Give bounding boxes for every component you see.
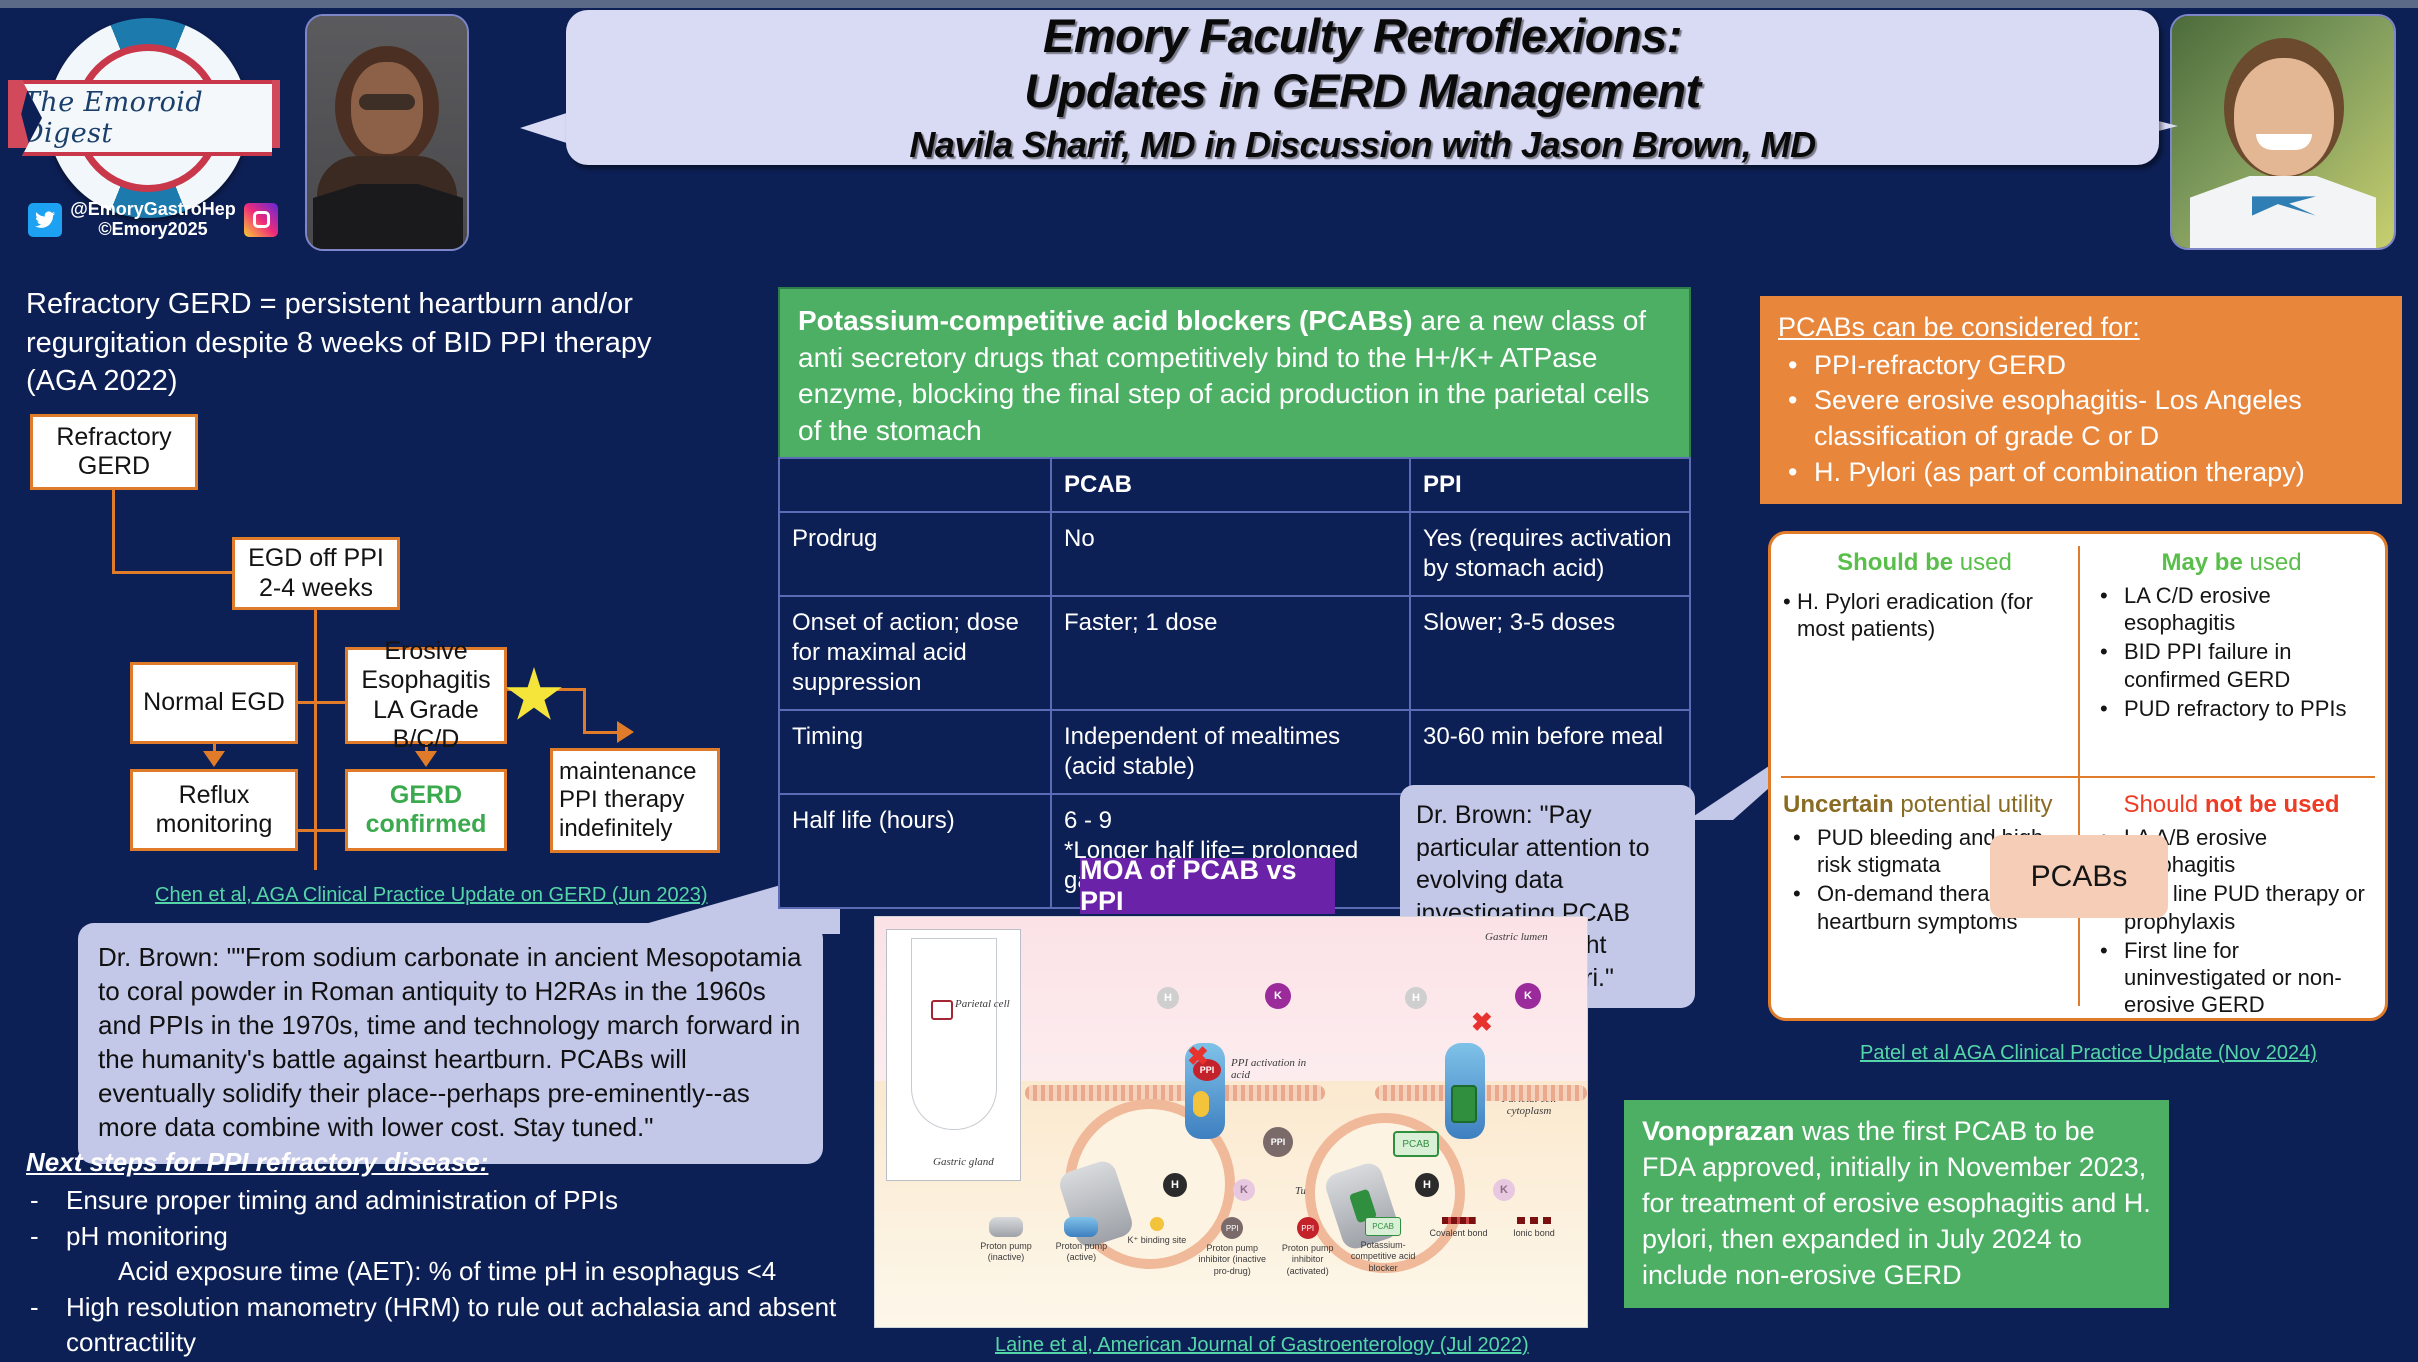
- legend-item: Ionic bond: [1498, 1217, 1570, 1277]
- pcab-considerations-header: PCABs can be considered for:: [1778, 310, 2384, 346]
- k-ion-pcab: K: [1515, 983, 1541, 1009]
- next-step-item: Ensure proper timing and administration …: [26, 1183, 926, 1218]
- flow-box-egd-off-ppi[interactable]: EGD off PPI 2-4 weeks: [232, 537, 400, 610]
- figure-legend: Proton pump (inactive) Proton pump (acti…: [970, 1217, 1570, 1277]
- poster-canvas: The Emoroid Digest @EmoryGastroHep ©Emor…: [0, 0, 2418, 1362]
- pcab-definition-box: Potassium-competitive acid blockers (PCA…: [778, 287, 1691, 466]
- flow-box-reflux-monitoring[interactable]: Reflux monitoring: [130, 769, 298, 851]
- flow-line-9: [583, 688, 586, 734]
- flow-line-5: [296, 829, 348, 832]
- legend-icon-pump-active: [1064, 1217, 1098, 1237]
- quadrant-heading-should: Should be used: [1783, 548, 2066, 578]
- quote-dr-brown-1: Dr. Brown: ""From sodium carbonate in an…: [78, 923, 823, 1164]
- consideration-item: Severe erosive esophagitis- Los Angeles …: [1778, 383, 2384, 454]
- quadrant-may-be-used: May be used LA C/D erosive esophagitis B…: [2078, 534, 2385, 776]
- k-ion-exit: K: [1233, 1179, 1255, 1201]
- legend-icon-covalent: [1442, 1217, 1476, 1224]
- table-cell-label: Onset of action; dose for maximal acid s…: [779, 596, 1051, 710]
- pcab-usage-quadrant-box: Should be used H. Pylori eradication (fo…: [1768, 531, 2388, 1021]
- k-ion-exit-2: K: [1493, 1179, 1515, 1201]
- pcab-definition-bold: Potassium-competitive acid blockers (PCA…: [798, 305, 1413, 336]
- legend-icon-pcab: PCAB: [1365, 1217, 1401, 1236]
- legend-icon-pump-inactive: [989, 1217, 1023, 1237]
- may-item: LA C/D erosive esophagitis: [2090, 582, 2373, 637]
- next-steps-header: Next steps for PPI refractory disease:: [26, 1145, 926, 1180]
- next-step-item: pH monitoring: [26, 1219, 926, 1254]
- h-ion-outgoing: H: [1157, 987, 1179, 1009]
- speaker-photo-navila-sharif: [305, 14, 469, 251]
- pcab-considerations-list: PPI-refractory GERD Severe erosive esoph…: [1778, 348, 2384, 491]
- flow-box-gerd-confirmed[interactable]: GERD confirmed: [345, 769, 507, 851]
- consideration-item: PPI-refractory GERD: [1778, 348, 2384, 384]
- instagram-icon[interactable]: [244, 203, 278, 237]
- k-ion-ppi: K: [1265, 983, 1291, 1009]
- legend-icon-k-site: [1150, 1217, 1164, 1231]
- legend-item: Proton pump (active): [1045, 1217, 1117, 1277]
- table-header-blank: [779, 458, 1051, 512]
- table-row: Prodrug No Yes (requires activation by s…: [779, 512, 1690, 596]
- legend-item: PPIProton pump inhibitor (activated): [1272, 1217, 1344, 1277]
- social-handles: @EmoryGastroHep ©Emory2025: [28, 200, 278, 240]
- flow-line-10: [583, 731, 619, 734]
- moa-mechanism-figure: Gastric lumen Parietal cell cytoplasm Tu…: [874, 916, 1588, 1328]
- flow-line-1: [112, 490, 115, 574]
- quadrant-should-be-used: Should be used H. Pylori eradication (fo…: [1771, 534, 2078, 776]
- may-item: PUD refractory to PPIs: [2090, 695, 2373, 722]
- flow-arrow-to-maintenance: [617, 721, 634, 743]
- quadrant-heading-uncertain: Uncertain potential utility: [1783, 790, 2066, 820]
- next-steps-list: Ensure proper timing and administration …: [26, 1183, 926, 1362]
- table-cell-label: Half life (hours): [779, 794, 1051, 908]
- legend-item: Covalent bond: [1423, 1217, 1495, 1277]
- table-row: Timing Independent of mealtimes (acid st…: [779, 710, 1690, 794]
- legend-item: PPIProton pump inhibitor (inactive pro-d…: [1196, 1217, 1268, 1277]
- consideration-item: H. Pylori (as part of combination therap…: [1778, 455, 2384, 491]
- flow-arrow-normal-to-reflux: [203, 751, 225, 767]
- legend-icon-ionic: [1517, 1217, 1551, 1224]
- legend-icon-ppi-prodrug: PPI: [1221, 1217, 1243, 1239]
- twitter-handle: @EmoryGastroHep: [70, 199, 236, 219]
- social-handle-text: @EmoryGastroHep ©Emory2025: [69, 200, 237, 240]
- top-accent-bar: [0, 0, 2418, 8]
- star-icon: [505, 667, 563, 725]
- label-gastric-lumen: Gastric lumen: [1485, 931, 1548, 943]
- moa-section-label: MOA of PCAB vs PPI: [1080, 858, 1335, 914]
- ppi-prodrug-badge: PPI: [1263, 1127, 1293, 1157]
- ribbon-left-tail: [8, 80, 30, 148]
- legend-item: Proton pump (inactive): [970, 1217, 1042, 1277]
- label-parietal-cell: Parietal cell: [955, 998, 1010, 1010]
- twitter-icon[interactable]: [28, 203, 62, 237]
- legend-icon-ppi-active: PPI: [1297, 1217, 1319, 1239]
- flow-box-erosive-esophagitis[interactable]: Erosive Esophagitis LA Grade B/C/D: [345, 647, 507, 744]
- citation-laine-link[interactable]: Laine et al, American Journal of Gastroe…: [995, 1334, 1529, 1357]
- flow-box-refractory-gerd[interactable]: Refractory GERD: [30, 414, 198, 490]
- next-step-item: High resolution manometry (HRM) to rule …: [26, 1290, 926, 1360]
- table-cell-pcab: Independent of mealtimes (acid stable): [1051, 710, 1410, 794]
- h-ion-outgoing-2: H: [1405, 987, 1427, 1009]
- vonoprazan-box: Vonoprazan was the first PCAB to be FDA …: [1624, 1100, 2169, 1308]
- quadrant-heading-not-used: Should not be used: [2090, 790, 2373, 820]
- table-cell-pcab: Faster; 1 dose: [1051, 596, 1410, 710]
- citation-patel-link[interactable]: Patel et al AGA Clinical Practice Update…: [1860, 1042, 2317, 1065]
- flow-line-4: [296, 701, 348, 704]
- label-ppi-activation: PPI activation in acid: [1231, 1057, 1311, 1081]
- pcab-considerations-box: PCABs can be considered for: PPI-refract…: [1760, 296, 2402, 504]
- copyright-text: ©Emory2025: [98, 219, 207, 239]
- may-be-used-list: LA C/D erosive esophagitis BID PPI failu…: [2090, 582, 2373, 722]
- table-cell-ppi: Slower; 3-5 doses: [1410, 596, 1690, 710]
- next-step-subitem: Acid exposure time (AET): % of time pH i…: [26, 1254, 926, 1289]
- logo-text: The Emoroid Digest: [22, 87, 272, 149]
- table-cell-ppi: 30-60 min before meal: [1410, 710, 1690, 794]
- table-header-ppi: PPI: [1410, 458, 1690, 512]
- title-banner: Emory Faculty Retroflexions: Updates in …: [566, 10, 2159, 165]
- citation-chen-link[interactable]: Chen et al, AGA Clinical Practice Update…: [155, 884, 708, 907]
- block-x-icon-2: ✖: [1471, 1009, 1493, 1035]
- h-ion-incoming-2: H: [1415, 1173, 1439, 1197]
- flow-line-2: [112, 571, 234, 574]
- table-cell-label: Prodrug: [779, 512, 1051, 596]
- table-row: Onset of action; dose for maximal acid s…: [779, 596, 1690, 710]
- table-cell-pcab: No: [1051, 512, 1410, 596]
- title-line-2: Updates in GERD Management: [1024, 64, 1700, 118]
- should-item: H. Pylori eradication (for most patients…: [1783, 588, 2066, 643]
- table-cell-label: Timing: [779, 710, 1051, 794]
- gastric-gland-inset: Parietal cell Gastric gland: [886, 929, 1021, 1181]
- table-cell-ppi: Yes (requires activation by stomach acid…: [1410, 512, 1690, 596]
- flow-box-normal-egd[interactable]: Normal EGD: [130, 662, 298, 744]
- title-subtitle: Navila Sharif, MD in Discussion with Jas…: [909, 124, 1815, 166]
- label-gastric-gland: Gastric gland: [933, 1156, 994, 1168]
- table-header-row: PCAB PPI: [779, 458, 1690, 512]
- pcabs-center-pill: PCABs: [1990, 835, 2168, 918]
- quadrant-heading-may: May be used: [2090, 548, 2373, 578]
- block-x-icon-1: ✖: [1187, 1043, 1209, 1069]
- table-header-pcab: PCAB: [1051, 458, 1410, 512]
- refractory-gerd-definition: Refractory GERD = persistent heartburn a…: [26, 285, 686, 401]
- legend-item: K⁺ binding site: [1121, 1217, 1193, 1277]
- vonoprazan-bold: Vonoprazan: [1642, 1116, 1795, 1146]
- title-line-1: Emory Faculty Retroflexions:: [1043, 9, 1682, 63]
- may-item: BID PPI failure in confirmed GERD: [2090, 638, 2373, 693]
- next-steps-section: Next steps for PPI refractory disease: E…: [26, 1145, 926, 1362]
- logo-ribbon: The Emoroid Digest: [22, 80, 272, 156]
- speaker-photo-jason-brown: [2170, 14, 2396, 250]
- legend-item: PCABPotassium-competitive acid blocker: [1347, 1217, 1419, 1277]
- pcab-badge: PCAB: [1393, 1131, 1439, 1157]
- flow-box-maintenance-ppi[interactable]: maintenance PPI therapy indefinitely: [550, 748, 720, 853]
- h-ion-incoming: H: [1163, 1173, 1187, 1197]
- not-used-item: First line for uninvestigated or non-ero…: [2090, 937, 2373, 1019]
